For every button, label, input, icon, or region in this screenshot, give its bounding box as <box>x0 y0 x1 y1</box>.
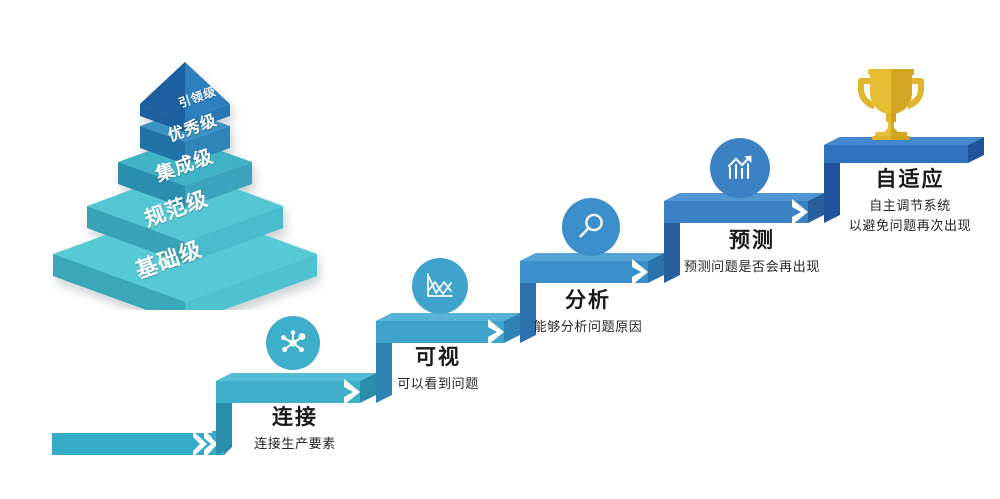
analyze-tread <box>520 261 648 283</box>
step-label-predict: 预测 预测问题是否会再出现 <box>670 228 834 277</box>
step-label-analyze: 分析 能够分析问题原因 <box>523 288 653 337</box>
trophy-glyph <box>848 58 934 144</box>
visualize-tread <box>376 321 504 343</box>
bar-chart-trend-icon[interactable] <box>710 138 770 198</box>
trophy-base-bottom-right <box>891 136 910 140</box>
adaptive-subtitle-1: 自主调节系统 <box>828 197 992 216</box>
diagram-canvas: 引领级 优秀级 集成级 规范级 基础级 <box>0 0 1000 499</box>
step-label-connect: 连接 连接生产要素 <box>230 405 360 454</box>
connect-subtitle: 连接生产要素 <box>230 435 360 454</box>
connect-title: 连接 <box>230 405 360 431</box>
connect-tread <box>216 381 360 403</box>
predict-title: 预测 <box>670 228 834 254</box>
magnifier-icon[interactable] <box>562 198 620 256</box>
stair-step-base <box>52 423 232 457</box>
analyze-subtitle: 能够分析问题原因 <box>523 318 653 337</box>
network-hub-glyph <box>277 327 309 359</box>
adaptive-title: 自适应 <box>828 167 992 193</box>
trophy-icon <box>848 58 934 144</box>
step-label-visualize: 可视 可以看到问题 <box>373 345 503 394</box>
trophy-rim-right <box>891 69 914 75</box>
line-chart-glyph <box>423 269 457 303</box>
visualize-tread-top <box>376 313 520 321</box>
visualize-title: 可视 <box>373 345 503 371</box>
line-chart-icon[interactable] <box>412 258 468 314</box>
visualize-subtitle: 可以看到问题 <box>373 375 503 394</box>
stair-base-tread <box>52 433 212 455</box>
adaptive-subtitle-2: 以避免问题再次出现 <box>828 217 992 236</box>
predict-subtitle: 预测问题是否会再出现 <box>670 258 834 277</box>
connect-tread-top <box>216 373 376 381</box>
adaptive-tread <box>824 145 968 163</box>
trophy-collar-right <box>891 113 896 122</box>
magnifier-glyph <box>574 210 608 244</box>
bar-chart-trend-glyph <box>722 150 758 186</box>
analyze-title: 分析 <box>523 288 653 314</box>
step-label-adaptive: 自适应 自主调节系统 以避免问题再次出现 <box>828 167 992 236</box>
network-hub-icon[interactable] <box>266 316 320 370</box>
predict-tread <box>664 201 808 223</box>
